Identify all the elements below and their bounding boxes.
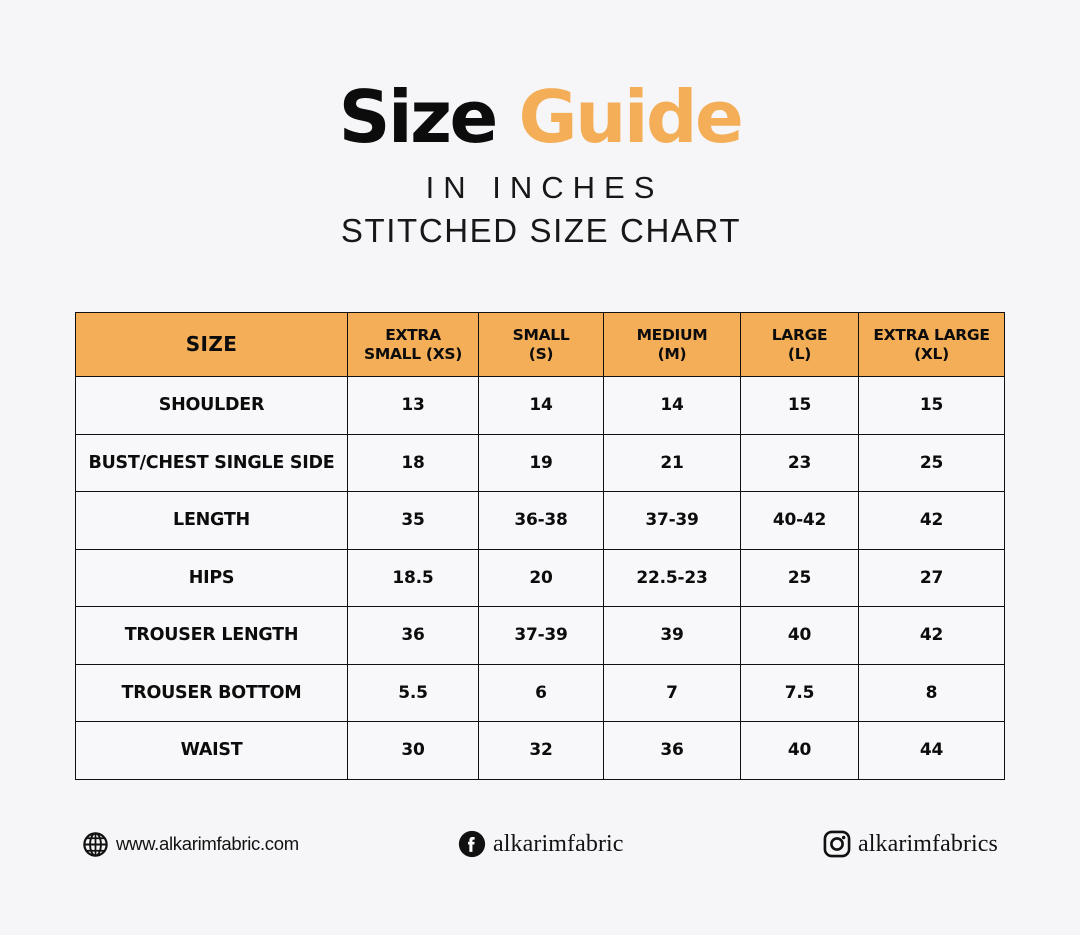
table-row: SHOULDER 13 14 14 15 15 <box>76 377 1005 435</box>
cell-length-l: 40-42 <box>741 492 859 550</box>
column-header-l-line1: LARGE <box>744 326 855 345</box>
cell-length-xl: 42 <box>859 492 1005 550</box>
size-guide-page: Size Guide IN INCHES STITCHED SIZE CHART… <box>0 0 1080 935</box>
cell-trouser-bottom-l: 7.5 <box>741 664 859 722</box>
column-header-m-line1: MEDIUM <box>607 326 737 345</box>
cell-waist-s: 32 <box>479 722 604 780</box>
cell-trouser-bottom-xs: 5.5 <box>348 664 479 722</box>
title-block: Size Guide IN INCHES STITCHED SIZE CHART <box>0 76 1080 252</box>
cell-trouser-length-xs: 36 <box>348 607 479 665</box>
subtitle-unit: IN INCHES <box>0 168 1080 208</box>
facebook-icon <box>458 830 486 858</box>
column-header-xs-line1: EXTRA <box>351 326 475 345</box>
footer: www.alkarimfabric.com alkarimfabric alka… <box>75 810 1004 874</box>
column-header-size-line1: SIZE <box>79 335 344 354</box>
column-header-s-line2: (S) <box>482 345 600 364</box>
cell-trouser-length-s: 37-39 <box>479 607 604 665</box>
footer-website[interactable]: www.alkarimfabric.com <box>82 824 299 864</box>
cell-hips-m: 22.5-23 <box>604 549 741 607</box>
cell-bust-s: 19 <box>479 434 604 492</box>
row-label-trouser-bottom: TROUSER BOTTOM <box>76 664 348 722</box>
footer-facebook[interactable]: alkarimfabric <box>458 824 624 864</box>
cell-trouser-bottom-m: 7 <box>604 664 741 722</box>
footer-instagram[interactable]: alkarimfabrics <box>823 824 998 864</box>
column-header-xl-line1: EXTRA LARGE <box>862 326 1001 345</box>
cell-bust-l: 23 <box>741 434 859 492</box>
cell-hips-xl: 27 <box>859 549 1005 607</box>
column-header-xs: EXTRA SMALL (XS) <box>348 313 479 377</box>
cell-waist-l: 40 <box>741 722 859 780</box>
column-header-xs-line2: SMALL (XS) <box>351 345 475 364</box>
cell-hips-xs: 18.5 <box>348 549 479 607</box>
cell-trouser-length-m: 39 <box>604 607 741 665</box>
cell-trouser-length-l: 40 <box>741 607 859 665</box>
table-row: LENGTH 35 36-38 37-39 40-42 42 <box>76 492 1005 550</box>
column-header-l-line2: (L) <box>744 345 855 364</box>
table-header: SIZE EXTRA SMALL (XS) SMALL (S) MEDIUM (… <box>76 313 1005 377</box>
title-word-size: Size <box>339 75 496 159</box>
size-chart-table: SIZE EXTRA SMALL (XS) SMALL (S) MEDIUM (… <box>75 312 1005 780</box>
table-row: TROUSER LENGTH 36 37-39 39 40 42 <box>76 607 1005 665</box>
table-header-row: SIZE EXTRA SMALL (XS) SMALL (S) MEDIUM (… <box>76 313 1005 377</box>
cell-hips-s: 20 <box>479 549 604 607</box>
table-row: HIPS 18.5 20 22.5-23 25 27 <box>76 549 1005 607</box>
row-label-trouser-length: TROUSER LENGTH <box>76 607 348 665</box>
cell-trouser-bottom-xl: 8 <box>859 664 1005 722</box>
column-header-m: MEDIUM (M) <box>604 313 741 377</box>
cell-shoulder-l: 15 <box>741 377 859 435</box>
footer-website-label: www.alkarimfabric.com <box>116 833 299 855</box>
column-header-xl-line2: (XL) <box>862 345 1001 364</box>
column-header-size: SIZE <box>76 313 348 377</box>
cell-waist-m: 36 <box>604 722 741 780</box>
title-word-guide: Guide <box>518 75 741 159</box>
row-label-length: LENGTH <box>76 492 348 550</box>
cell-bust-m: 21 <box>604 434 741 492</box>
footer-facebook-label: alkarimfabric <box>493 831 624 858</box>
cell-trouser-bottom-s: 6 <box>479 664 604 722</box>
page-title: Size Guide <box>0 76 1080 158</box>
row-label-waist: WAIST <box>76 722 348 780</box>
cell-shoulder-s: 14 <box>479 377 604 435</box>
column-header-s: SMALL (S) <box>479 313 604 377</box>
cell-length-m: 37-39 <box>604 492 741 550</box>
column-header-m-line2: (M) <box>607 345 737 364</box>
cell-hips-l: 25 <box>741 549 859 607</box>
cell-waist-xs: 30 <box>348 722 479 780</box>
cell-shoulder-m: 14 <box>604 377 741 435</box>
column-header-xl: EXTRA LARGE (XL) <box>859 313 1005 377</box>
table-row: TROUSER BOTTOM 5.5 6 7 7.5 8 <box>76 664 1005 722</box>
cell-trouser-length-xl: 42 <box>859 607 1005 665</box>
subtitle-chart-type: STITCHED SIZE CHART <box>0 210 1080 252</box>
instagram-icon <box>823 830 851 858</box>
row-label-shoulder: SHOULDER <box>76 377 348 435</box>
cell-bust-xl: 25 <box>859 434 1005 492</box>
table-row: WAIST 30 32 36 40 44 <box>76 722 1005 780</box>
row-label-hips: HIPS <box>76 549 348 607</box>
cell-length-xs: 35 <box>348 492 479 550</box>
footer-instagram-label: alkarimfabrics <box>858 831 998 858</box>
column-header-l: LARGE (L) <box>741 313 859 377</box>
row-label-bust-chest: BUST/CHEST SINGLE SIDE <box>76 434 348 492</box>
table-row: BUST/CHEST SINGLE SIDE 18 19 21 23 25 <box>76 434 1005 492</box>
cell-bust-xs: 18 <box>348 434 479 492</box>
column-header-s-line1: SMALL <box>482 326 600 345</box>
cell-length-s: 36-38 <box>479 492 604 550</box>
table-body: SHOULDER 13 14 14 15 15 BUST/CHEST SINGL… <box>76 377 1005 780</box>
cell-waist-xl: 44 <box>859 722 1005 780</box>
globe-icon <box>82 831 109 858</box>
cell-shoulder-xl: 15 <box>859 377 1005 435</box>
cell-shoulder-xs: 13 <box>348 377 479 435</box>
